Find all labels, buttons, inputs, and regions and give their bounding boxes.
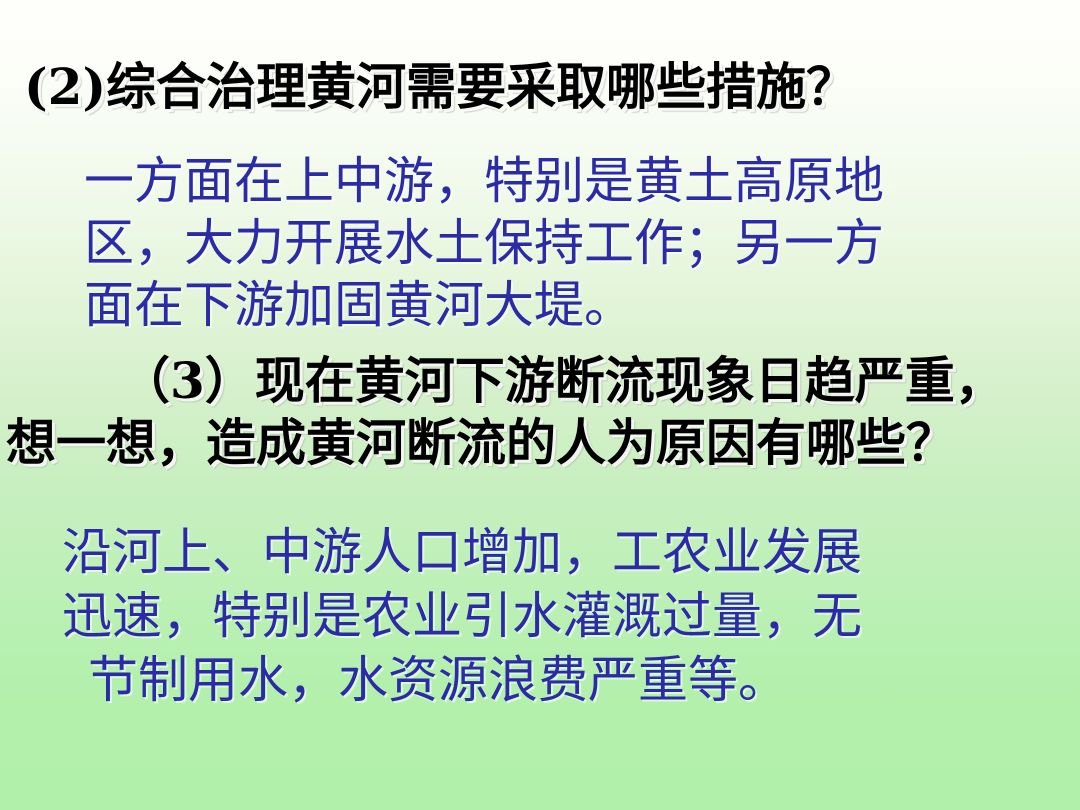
slide-canvas: (2)综合治理黄河需要采取哪些措施？ 一方面在上中游，特别是黄土高原地 区，大力… [0, 0, 1080, 810]
answer-2-line-1: 沿河上、中游人口增加，工农业发展 [62, 520, 862, 584]
question-2-title: (2)综合治理黄河需要采取哪些措施？ [24, 58, 856, 116]
answer-1-line-1: 一方面在上中游，特别是黄土高原地 [84, 150, 884, 212]
question-3-line-1: （3）现在黄河下游断流现象日趋严重， [0, 350, 1080, 412]
answer-1-block: 一方面在上中游，特别是黄土高原地 区，大力开展水土保持工作；另一方 面在下游加固… [84, 150, 884, 336]
answer-1-line-3: 面在下游加固黄河大堤。 [84, 274, 884, 336]
question-3-block: （3）现在黄河下游断流现象日趋严重， 想一想，造成黄河断流的人为原因有哪些？ [0, 350, 1080, 474]
question-3-line-2: 想一想，造成黄河断流的人为原因有哪些？ [0, 412, 1080, 474]
answer-1-line-2: 区，大力开展水土保持工作；另一方 [84, 212, 884, 274]
answer-2-line-3: 节制用水，水资源浪费严重等。 [62, 648, 862, 712]
answer-2-line-2: 迅速，特别是农业引水灌溉过量，无 [62, 584, 862, 648]
answer-2-block: 沿河上、中游人口增加，工农业发展 迅速，特别是农业引水灌溉过量，无 节制用水，水… [62, 520, 862, 712]
